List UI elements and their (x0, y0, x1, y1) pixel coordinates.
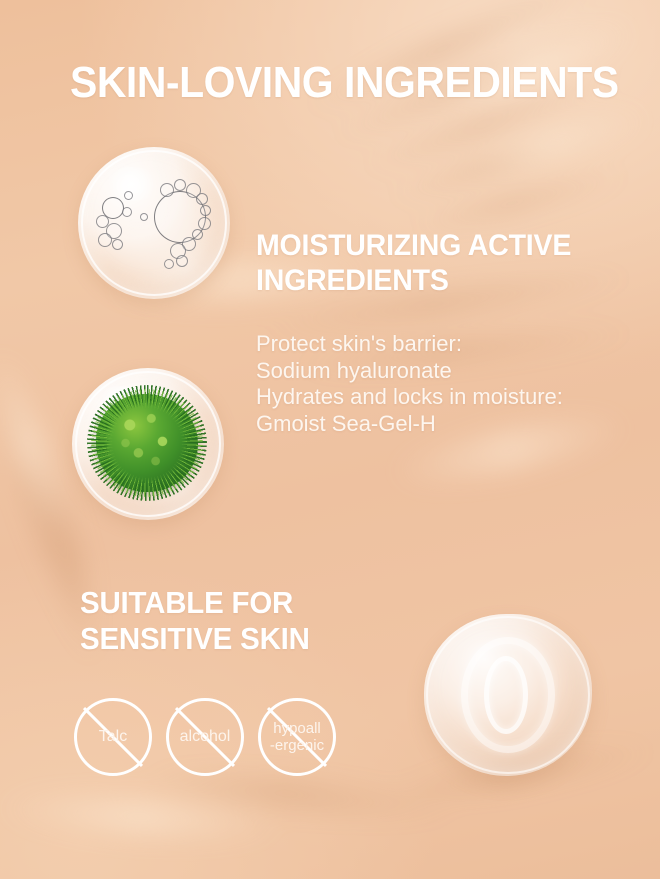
gel-inner-ring-inner (484, 656, 528, 734)
description-line-2: Sodium hyaluronate (256, 358, 616, 385)
free-from-badges: Talc alcohol hypoall -ergenic (74, 698, 336, 776)
badge-alcohol: alcohol (166, 698, 244, 776)
product-ingredients-poster: SKIN-LOVING INGREDIENTS (0, 0, 660, 879)
badge-hypoallergenic: hypoall -ergenic (258, 698, 336, 776)
algae-droplet-image (72, 368, 224, 520)
badge-label: Talc (99, 728, 127, 746)
sensitive-skin-heading: SUITABLE FOR SENSITIVE SKIN (80, 585, 394, 657)
description-line-3: Hydrates and locks in moisture: (256, 384, 616, 411)
badge-talc: Talc (74, 698, 152, 776)
green-algae-ball (96, 394, 198, 492)
page-title: SKIN-LOVING INGREDIENTS (70, 58, 619, 108)
foam-bubble-cluster (78, 147, 230, 299)
badge-label: alcohol (180, 728, 231, 746)
algae-texture (104, 402, 190, 484)
description-line-4: Gmoist Sea-Gel-H (256, 411, 616, 438)
badge-label-line-1: hypoall (273, 720, 321, 737)
moisturizing-description: Protect skin's barrier: Sodium hyalurona… (256, 331, 616, 437)
gel-blob-image (424, 614, 592, 776)
badge-label: hypoall -ergenic (270, 720, 324, 754)
bubble-droplet-image (78, 147, 230, 299)
moisturizing-heading: MOISTURIZING ACTIVE INGREDIENTS (256, 228, 589, 298)
badge-label-line-2: -ergenic (270, 737, 324, 754)
description-line-1: Protect skin's barrier: (256, 331, 616, 358)
